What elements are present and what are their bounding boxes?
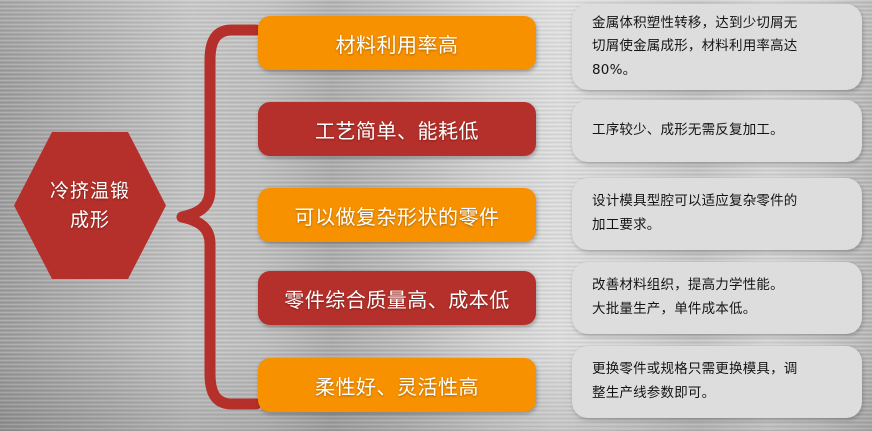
branch-pill-label-2: 工艺简单、能耗低 [315, 115, 479, 144]
branch-pill-5[interactable]: 柔性好、灵活性高 [258, 358, 536, 412]
description-text-1: 金属体积塑性转移，达到少切屑无 切屑使金属成形，材料利用率高达 80%。 [592, 12, 798, 83]
branch-pill-3[interactable]: 可以做复杂形状的零件 [258, 188, 536, 242]
diagram-canvas: 冷挤温锻 成形 材料利用率高 工艺简单、能耗低 可以做复杂形状的零件 零件综合质… [0, 0, 872, 431]
description-card-1: 金属体积塑性转移，达到少切屑无 切屑使金属成形，材料利用率高达 80%。 [572, 4, 862, 90]
description-card-2: 工序较少、成形无需反复加工。 [572, 100, 862, 162]
branch-pill-1[interactable]: 材料利用率高 [258, 16, 536, 70]
description-text-4: 改善材料组织，提高力学性能。 大批量生产，单件成本低。 [592, 274, 784, 321]
branch-pill-4[interactable]: 零件综合质量高、成本低 [258, 271, 536, 325]
description-card-3: 设计模具型腔可以适应复杂零件的 加工要求。 [572, 178, 862, 250]
branch-pill-2[interactable]: 工艺简单、能耗低 [258, 102, 536, 156]
branch-pill-label-3: 可以做复杂形状的零件 [295, 201, 500, 230]
branch-pill-label-4: 零件综合质量高、成本低 [284, 284, 510, 313]
branch-pill-label-5: 柔性好、灵活性高 [315, 371, 479, 400]
description-card-5: 更换零件或规格只需更换模具，调 整生产线参数即可。 [572, 346, 862, 418]
description-text-5: 更换零件或规格只需更换模具，调 整生产线参数即可。 [592, 358, 798, 405]
center-hexagon-label: 冷挤温锻 成形 [34, 177, 146, 234]
branch-pill-label-1: 材料利用率高 [336, 29, 459, 58]
description-text-3: 设计模具型腔可以适应复杂零件的 加工要求。 [592, 190, 798, 237]
description-card-4: 改善材料组织，提高力学性能。 大批量生产，单件成本低。 [572, 262, 862, 334]
description-text-2: 工序较少、成形无需反复加工。 [592, 119, 784, 143]
